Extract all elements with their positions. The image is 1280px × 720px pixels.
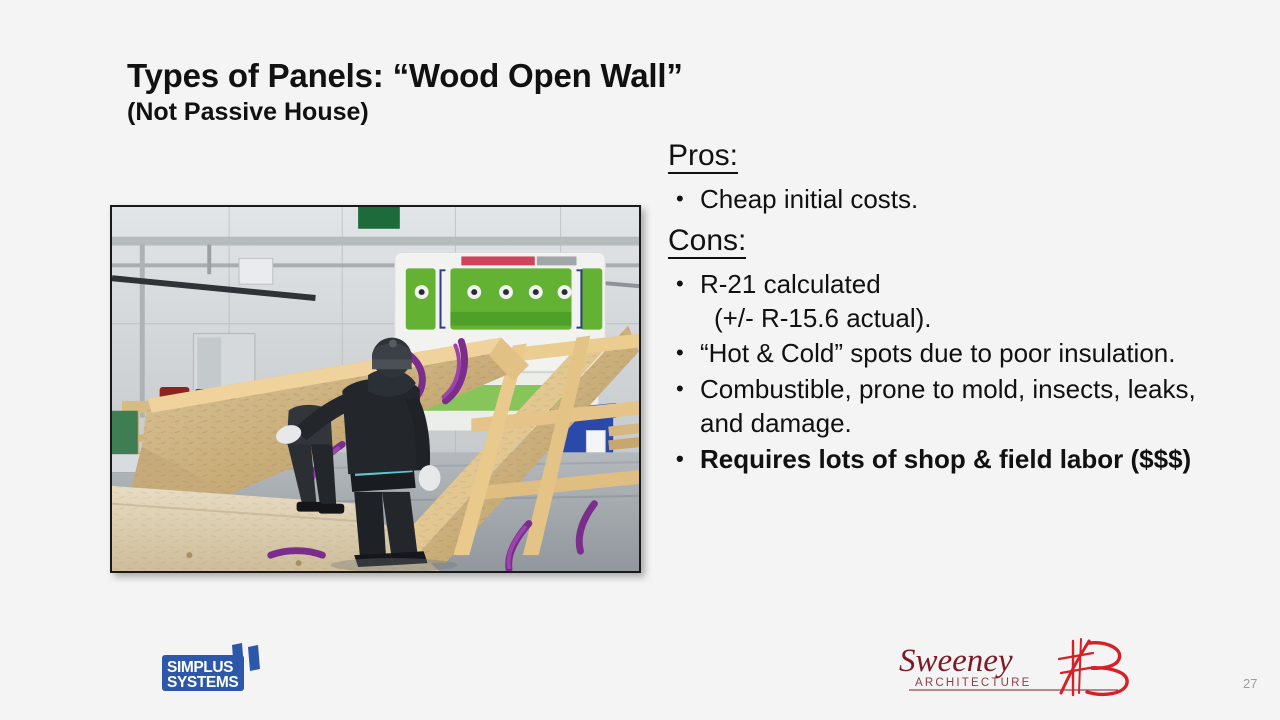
list-item: • Cheap initial costs. — [668, 183, 1213, 217]
cons-heading: Cons: — [668, 226, 746, 259]
cons-heading-row: Cons: — [668, 226, 1213, 264]
bullet-icon: • — [676, 337, 684, 369]
simplus-systems-logo: SIMPLUS SYSTEMS — [158, 643, 262, 695]
list-item-text: “Hot & Cold” spots due to poor insulatio… — [700, 338, 1175, 368]
list-item: • Requires lots of shop & field labor ($… — [668, 443, 1213, 477]
list-item: • Combustible, prone to mold, insects, l… — [668, 373, 1213, 441]
cons-list: • R-21 calculated (+/- R-15.6 actual). •… — [668, 268, 1213, 477]
bullet-icon: • — [676, 443, 684, 475]
panel-construction-photo — [110, 205, 641, 573]
sweeney-architecture-logo: Sweeney ARCHITECTURE — [893, 637, 1136, 699]
sweeney-logo-mark: Sweeney ARCHITECTURE — [893, 637, 1136, 699]
pros-heading: Pros: — [668, 141, 738, 174]
bullet-icon: • — [676, 183, 684, 215]
simplus-logo-mark: SIMPLUS SYSTEMS — [158, 643, 262, 695]
page-number: 27 — [1243, 676, 1257, 691]
pros-heading-row: Pros: — [668, 141, 1213, 179]
list-item-text: Cheap initial costs. — [700, 184, 918, 214]
list-item: • R-21 calculated (+/- R-15.6 actual). — [668, 268, 1213, 336]
simplus-line-2: SYSTEMS — [167, 674, 238, 691]
photo-illustration — [112, 207, 639, 571]
list-item: • “Hot & Cold” spots due to poor insulat… — [668, 337, 1213, 371]
list-item-subtext: (+/- R-15.6 actual). — [700, 302, 1213, 336]
pros-list: • Cheap initial costs. — [668, 183, 1213, 217]
sweeney-wordmark: Sweeney — [899, 643, 1013, 679]
pros-cons-content: Pros: • Cheap initial costs. Cons: • R-2… — [668, 141, 1213, 479]
title-sub-line: (Not Passive House) — [127, 98, 947, 127]
sweeney-submark: ARCHITECTURE — [915, 677, 1032, 689]
bullet-icon: • — [676, 373, 684, 405]
list-item-text: Requires lots of shop & field labor ($$$… — [700, 444, 1191, 474]
list-item-text: R-21 calculated — [700, 269, 881, 299]
page-title: Types of Panels: “Wood Open Wall” (Not P… — [127, 58, 947, 127]
title-main-line: Types of Panels: “Wood Open Wall” — [127, 58, 947, 95]
bullet-icon: • — [676, 268, 684, 300]
list-item-text: Combustible, prone to mold, insects, lea… — [700, 374, 1196, 438]
